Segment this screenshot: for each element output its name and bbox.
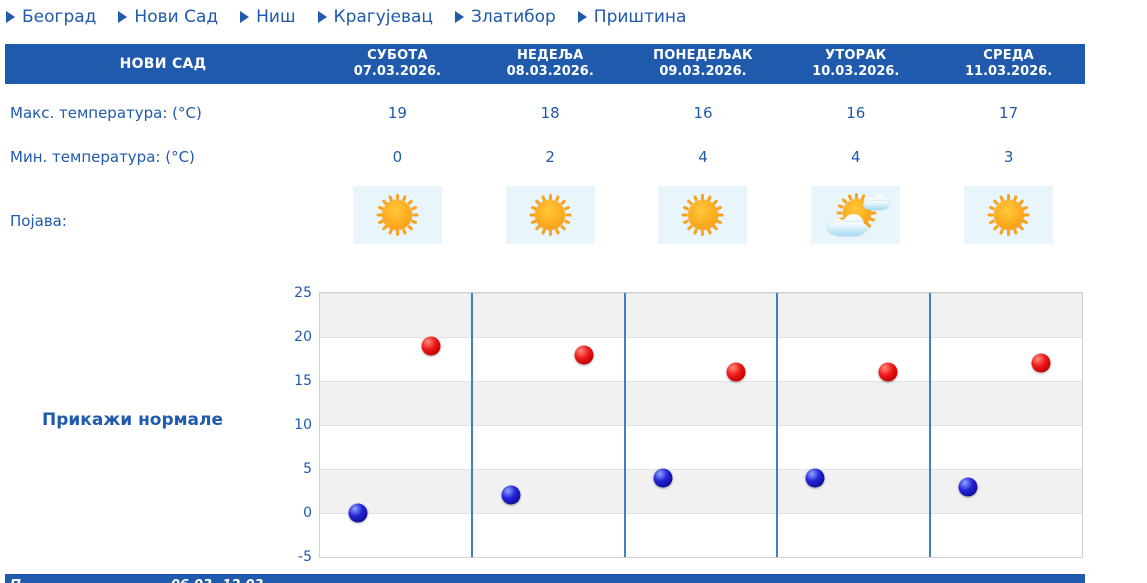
max-temp-day-3: 16	[627, 104, 780, 122]
forecast-header-bar: НОВИ САД СУБОТА 07.03.2026. НЕДЕЉА 08.03…	[5, 44, 1085, 84]
chart-y-tick-label: 10	[270, 417, 312, 433]
chart-day-separator	[471, 293, 473, 557]
weather-forecast-page: Београд Нови Сад Ниш Крагујевац Златибор…	[0, 0, 1147, 583]
footer-label: П	[5, 578, 21, 583]
weather-icon-box	[964, 186, 1053, 244]
temperature-chart: 2520151050-5	[270, 292, 1085, 560]
city-link-nis[interactable]: Ниш	[240, 7, 295, 27]
header-day-4: УТОРАК 10.03.2026.	[779, 44, 932, 84]
chart-y-tick-label: 0	[270, 505, 312, 521]
chart-band	[320, 381, 1082, 425]
arrow-right-icon	[455, 11, 464, 23]
chart-point-min	[958, 477, 977, 496]
chart-gridline	[320, 293, 1082, 294]
header-day-3: ПОНЕДЕЉАК 09.03.2026.	[627, 44, 780, 84]
cloud-icon	[827, 214, 867, 236]
phenomenon-day-5	[932, 186, 1085, 262]
min-temp-day-3: 4	[627, 148, 780, 166]
city-link-beograd[interactable]: Београд	[6, 7, 96, 27]
city-link-novi-sad[interactable]: Нови Сад	[118, 7, 218, 27]
chart-y-tick-label: 15	[270, 373, 312, 389]
header-day-2: НЕДЕЉА 08.03.2026.	[474, 44, 627, 84]
city-link-label: Ниш	[256, 7, 295, 27]
cloud-icon	[863, 195, 889, 210]
chart-gridline	[320, 425, 1082, 426]
chart-point-max	[879, 363, 898, 382]
footer-date-range: 06.03.-12.03.	[171, 578, 269, 583]
show-normals-button[interactable]: Прикажи нормале	[42, 410, 223, 430]
chart-day-separator	[929, 293, 931, 557]
header-day-name: УТОРАК	[825, 48, 886, 64]
chart-point-max	[422, 336, 441, 355]
max-temp-day-1: 19	[321, 104, 474, 122]
arrow-right-icon	[318, 11, 327, 23]
header-day-date: 09.03.2026.	[659, 64, 746, 80]
min-temp-day-1: 0	[321, 148, 474, 166]
chart-y-tick-label: 5	[270, 461, 312, 477]
phenomenon-day-3	[627, 186, 780, 262]
max-temp-day-2: 18	[474, 104, 627, 122]
sunny-icon	[987, 193, 1031, 237]
city-link-label: Београд	[22, 7, 96, 27]
phenomenon-day-1	[321, 186, 474, 262]
chart-point-min	[806, 468, 825, 487]
max-temp-day-4: 16	[779, 104, 932, 122]
header-day-5: СРЕДА 11.03.2026.	[932, 44, 1085, 84]
weather-icon-box	[658, 186, 747, 244]
header-day-name: СРЕДА	[983, 48, 1034, 64]
sunny-icon	[528, 193, 572, 237]
row-label-phenomenon: Појава:	[5, 186, 321, 231]
arrow-right-icon	[578, 11, 587, 23]
chart-point-max	[574, 345, 593, 364]
header-day-date: 08.03.2026.	[507, 64, 594, 80]
sunny-icon	[375, 193, 419, 237]
min-temp-day-4: 4	[779, 148, 932, 166]
chart-band	[320, 293, 1082, 337]
phenomenon-day-4	[779, 186, 932, 262]
chart-gridline	[320, 557, 1082, 558]
max-temp-day-5: 17	[932, 104, 1085, 122]
arrow-right-icon	[240, 11, 249, 23]
header-day-1: СУБОТА 07.03.2026.	[321, 44, 474, 84]
chart-day-separator	[776, 293, 778, 557]
city-link-label: Приштина	[594, 7, 687, 27]
city-link-label: Златибор	[471, 7, 556, 27]
chart-point-max	[1031, 354, 1050, 373]
weather-icon-box	[506, 186, 595, 244]
footer-bar: П 06.03.-12.03.	[5, 574, 1085, 583]
header-day-date: 07.03.2026.	[354, 64, 441, 80]
chart-day-separator	[624, 293, 626, 557]
header-day-name: ПОНЕДЕЉАК	[653, 48, 753, 64]
city-link-label: Крагујевац	[334, 7, 433, 27]
chart-y-tick-label: 25	[270, 285, 312, 301]
weather-icon-box	[811, 186, 900, 244]
arrow-right-icon	[118, 11, 127, 23]
chart-y-axis: 2520151050-5	[270, 292, 312, 560]
sunny-icon	[681, 193, 725, 237]
chart-gridline	[320, 381, 1082, 382]
city-link-kragujevac[interactable]: Крагујевац	[318, 7, 433, 27]
chart-point-min	[501, 486, 520, 505]
city-link-label: Нови Сад	[134, 7, 218, 27]
phenomenon-day-2	[474, 186, 627, 262]
min-temp-day-2: 2	[474, 148, 627, 166]
chart-y-tick-label: -5	[270, 549, 312, 565]
chart-y-tick-label: 20	[270, 329, 312, 345]
row-label-max-temperature: Макс. температура: (°C)	[5, 103, 321, 123]
header-day-name: НЕДЕЉА	[517, 48, 584, 64]
row-label-min-temperature: Мин. температура: (°C)	[5, 147, 321, 167]
city-link-zlatibor[interactable]: Златибор	[455, 7, 556, 27]
header-day-date: 10.03.2026.	[812, 64, 899, 80]
header-day-date: 11.03.2026.	[965, 64, 1052, 80]
arrow-right-icon	[6, 11, 15, 23]
header-city-name: НОВИ САД	[5, 44, 321, 84]
header-day-name: СУБОТА	[367, 48, 428, 64]
row-min-temperature: Мин. температура: (°C) 0 2 4 4 3	[5, 142, 1085, 172]
city-nav: Београд Нови Сад Ниш Крагујевац Златибор…	[6, 2, 1141, 32]
chart-gridline	[320, 513, 1082, 514]
chart-point-min	[653, 468, 672, 487]
chart-plot-area	[319, 292, 1083, 558]
chart-point-max	[727, 363, 746, 382]
city-link-pristina[interactable]: Приштина	[578, 7, 687, 27]
partly-cloudy-icon	[821, 190, 891, 240]
chart-gridline	[320, 469, 1082, 470]
chart-point-min	[349, 504, 368, 523]
row-max-temperature: Макс. температура: (°C) 19 18 16 16 17	[5, 98, 1085, 128]
row-phenomenon: Појава:	[5, 186, 1085, 262]
min-temp-day-5: 3	[932, 148, 1085, 166]
weather-icon-box	[353, 186, 442, 244]
